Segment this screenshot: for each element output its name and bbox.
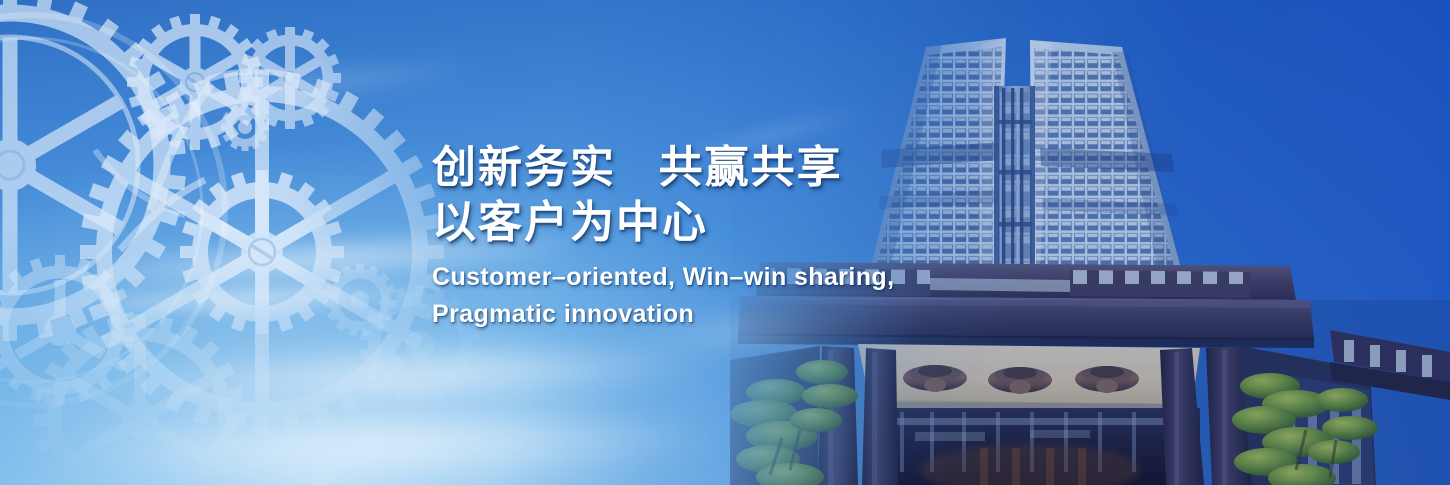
slogan-text-block: 创新务实 共赢共享 以客户为中心 Customer–oriented, Win–…: [432, 140, 992, 333]
subline-line-1: Customer–oriented, Win–win sharing,: [432, 259, 992, 296]
gear-inner-centre: [180, 170, 344, 334]
hero-banner: 创新务实 共赢共享 以客户为中心 Customer–oriented, Win–…: [0, 0, 1450, 485]
subline-line-2: Pragmatic innovation: [432, 296, 992, 333]
headline-line-1: 创新务实 共赢共享: [432, 140, 992, 195]
headline-line-2: 以客户为中心: [432, 195, 992, 250]
